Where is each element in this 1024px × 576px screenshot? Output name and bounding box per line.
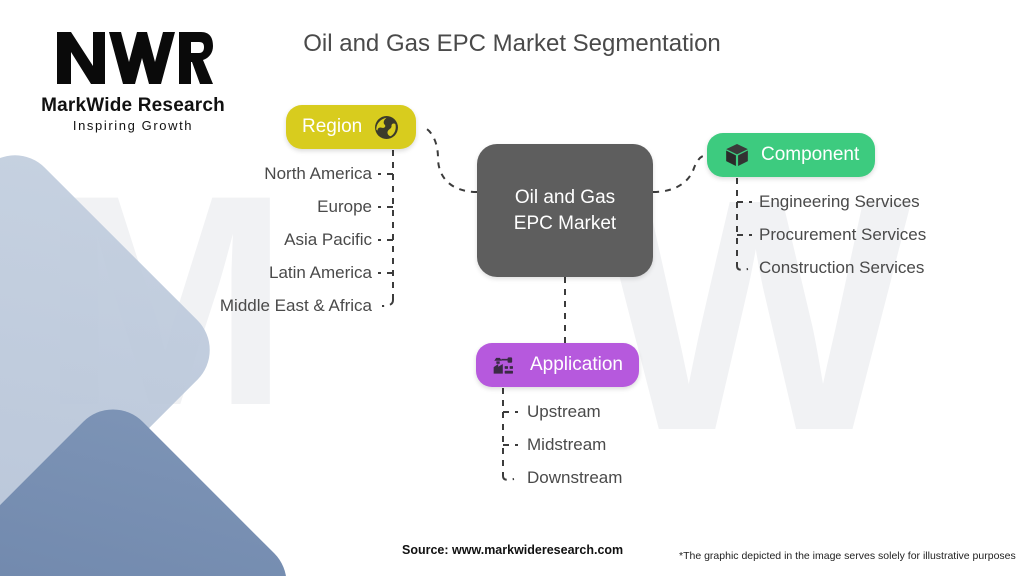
source-text: Source: www.markwideresearch.com [402,543,623,557]
leaf-application-1: Midstream [527,435,606,455]
leaf-region-3: Latin America [269,263,372,283]
logo-tagline: Inspiring Growth [28,118,238,133]
leaf-component-1: Procurement Services [759,225,926,245]
leaf-region-1: Europe [317,197,372,217]
center-node: Oil and Gas EPC Market [477,144,653,277]
infographic-canvas: M W MarkWide Research Inspiring Growth O… [0,0,1024,576]
leaf-region-2: Asia Pacific [284,230,372,250]
cube-icon [723,142,750,169]
region-badge[interactable]: Region [286,105,416,149]
leaf-component-0: Engineering Services [759,192,920,212]
application-badge[interactable]: Application [476,343,639,387]
component-badge[interactable]: Component [707,133,875,177]
leaf-region-4: Middle East & Africa [220,296,372,316]
center-node-line-2: EPC Market [514,213,616,234]
logo-company-name: MarkWide Research [28,95,238,117]
decorative-square-light [0,138,227,562]
leaf-region-0: North America [264,164,372,184]
leaf-application-0: Upstream [527,402,601,422]
decorative-square-dark [0,392,304,576]
branch-node-application[interactable]: Application [476,343,639,387]
factory-robot-icon [492,352,519,379]
center-node-line-1: Oil and Gas [515,187,615,208]
region-badge-label: Region [302,116,362,138]
leaf-component-2: Construction Services [759,258,924,278]
page-title: Oil and Gas EPC Market Segmentation [0,30,1024,58]
branch-node-component[interactable]: Component [707,133,875,177]
component-badge-label: Component [761,144,859,166]
application-badge-label: Application [530,354,623,376]
center-node-text: Oil and Gas EPC Market [514,185,616,235]
disclaimer-text: *The graphic depicted in the image serve… [679,550,1016,562]
leaf-application-2: Downstream [527,468,622,488]
globe-icon [373,114,400,141]
branch-node-region[interactable]: Region [286,105,416,149]
